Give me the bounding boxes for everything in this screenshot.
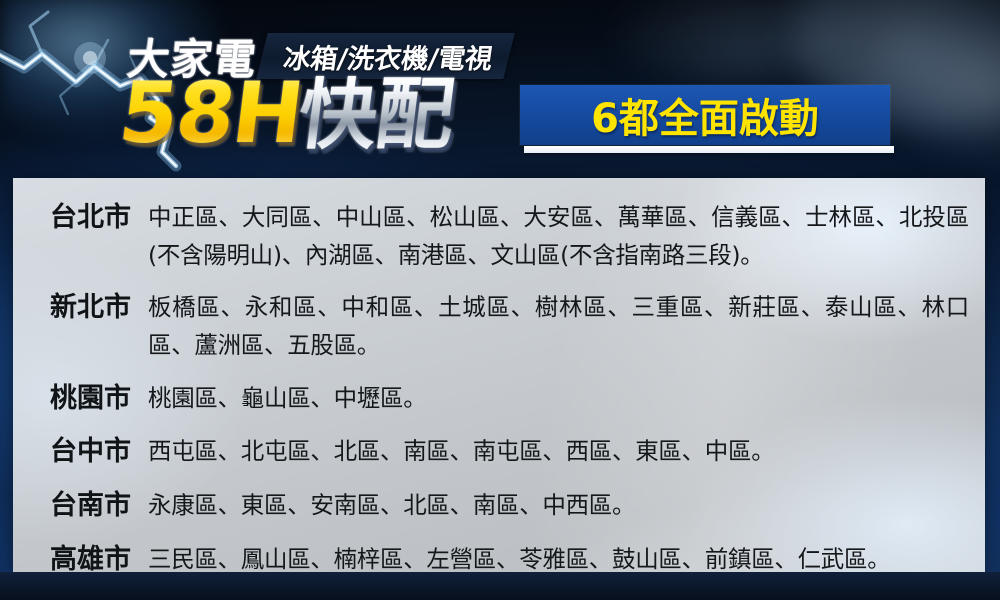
coverage-badge-underline	[524, 146, 894, 153]
row-city-label: 高雄市	[13, 546, 131, 572]
main-title-word: 快配	[294, 76, 458, 154]
row-district-list: 板橋區、永和區、中和區、土城區、樹林區、三重區、新莊區、泰山區、林口區、蘆洲區、…	[148, 288, 969, 364]
bottom-strip	[0, 572, 1000, 600]
table-row: 桃園市桃園區、龜山區、中壢區。	[13, 379, 985, 417]
row-city-label: 台北市	[13, 204, 131, 231]
row-city-label: 台中市	[13, 438, 131, 465]
coverage-badge: 6都全面啟動	[520, 85, 890, 145]
table-row: 台中市西屯區、北屯區、北區、南區、南屯區、西區、東區、中區。	[13, 432, 985, 470]
table-row: 台南市永康區、東區、安南區、北區、南區、中西區。	[13, 486, 985, 524]
table-row: 台北市中正區、大同區、中山區、松山區、大安區、萬華區、信義區、士林區、北投區(不…	[13, 198, 985, 274]
main-title-number: 58H	[115, 72, 308, 154]
row-district-list: 西屯區、北屯區、北區、南區、南屯區、西區、東區、中區。	[148, 432, 969, 470]
row-city-label: 台南市	[13, 492, 131, 519]
row-district-list: 永康區、東區、安南區、北區、南區、中西區。	[148, 486, 969, 524]
table-row: 高雄市三民區、鳳山區、楠梓區、左營區、苓雅區、鼓山區、前鎮區、仁武區。	[13, 540, 985, 572]
row-district-list: 桃園區、龜山區、中壢區。	[148, 379, 969, 417]
main-title: 58H 快配	[115, 72, 458, 154]
coverage-row-list: 台北市中正區、大同區、中山區、松山區、大安區、萬華區、信義區、士林區、北投區(不…	[13, 178, 985, 572]
coverage-panel: 台北市中正區、大同區、中山區、松山區、大安區、萬華區、信義區、士林區、北投區(不…	[13, 178, 985, 572]
row-district-list: 三民區、鳳山區、楠梓區、左營區、苓雅區、鼓山區、前鎮區、仁武區。	[148, 540, 969, 572]
promo-banner: 大家電 冰箱/洗衣機/電視 58H 快配 6都全面啟動 台北市中正區、大同區、中…	[0, 0, 1000, 600]
row-city-label: 桃園市	[13, 385, 131, 412]
headline-block: 大家電 冰箱/洗衣機/電視 58H 快配 6都全面啟動	[0, 0, 1000, 178]
table-row: 新北市板橋區、永和區、中和區、土城區、樹林區、三重區、新莊區、泰山區、林口區、蘆…	[13, 288, 985, 364]
row-district-list: 中正區、大同區、中山區、松山區、大安區、萬華區、信義區、士林區、北投區(不含陽明…	[148, 198, 969, 274]
coverage-badge-label: 6都全面啟動	[591, 86, 819, 144]
row-city-label: 新北市	[13, 294, 131, 321]
